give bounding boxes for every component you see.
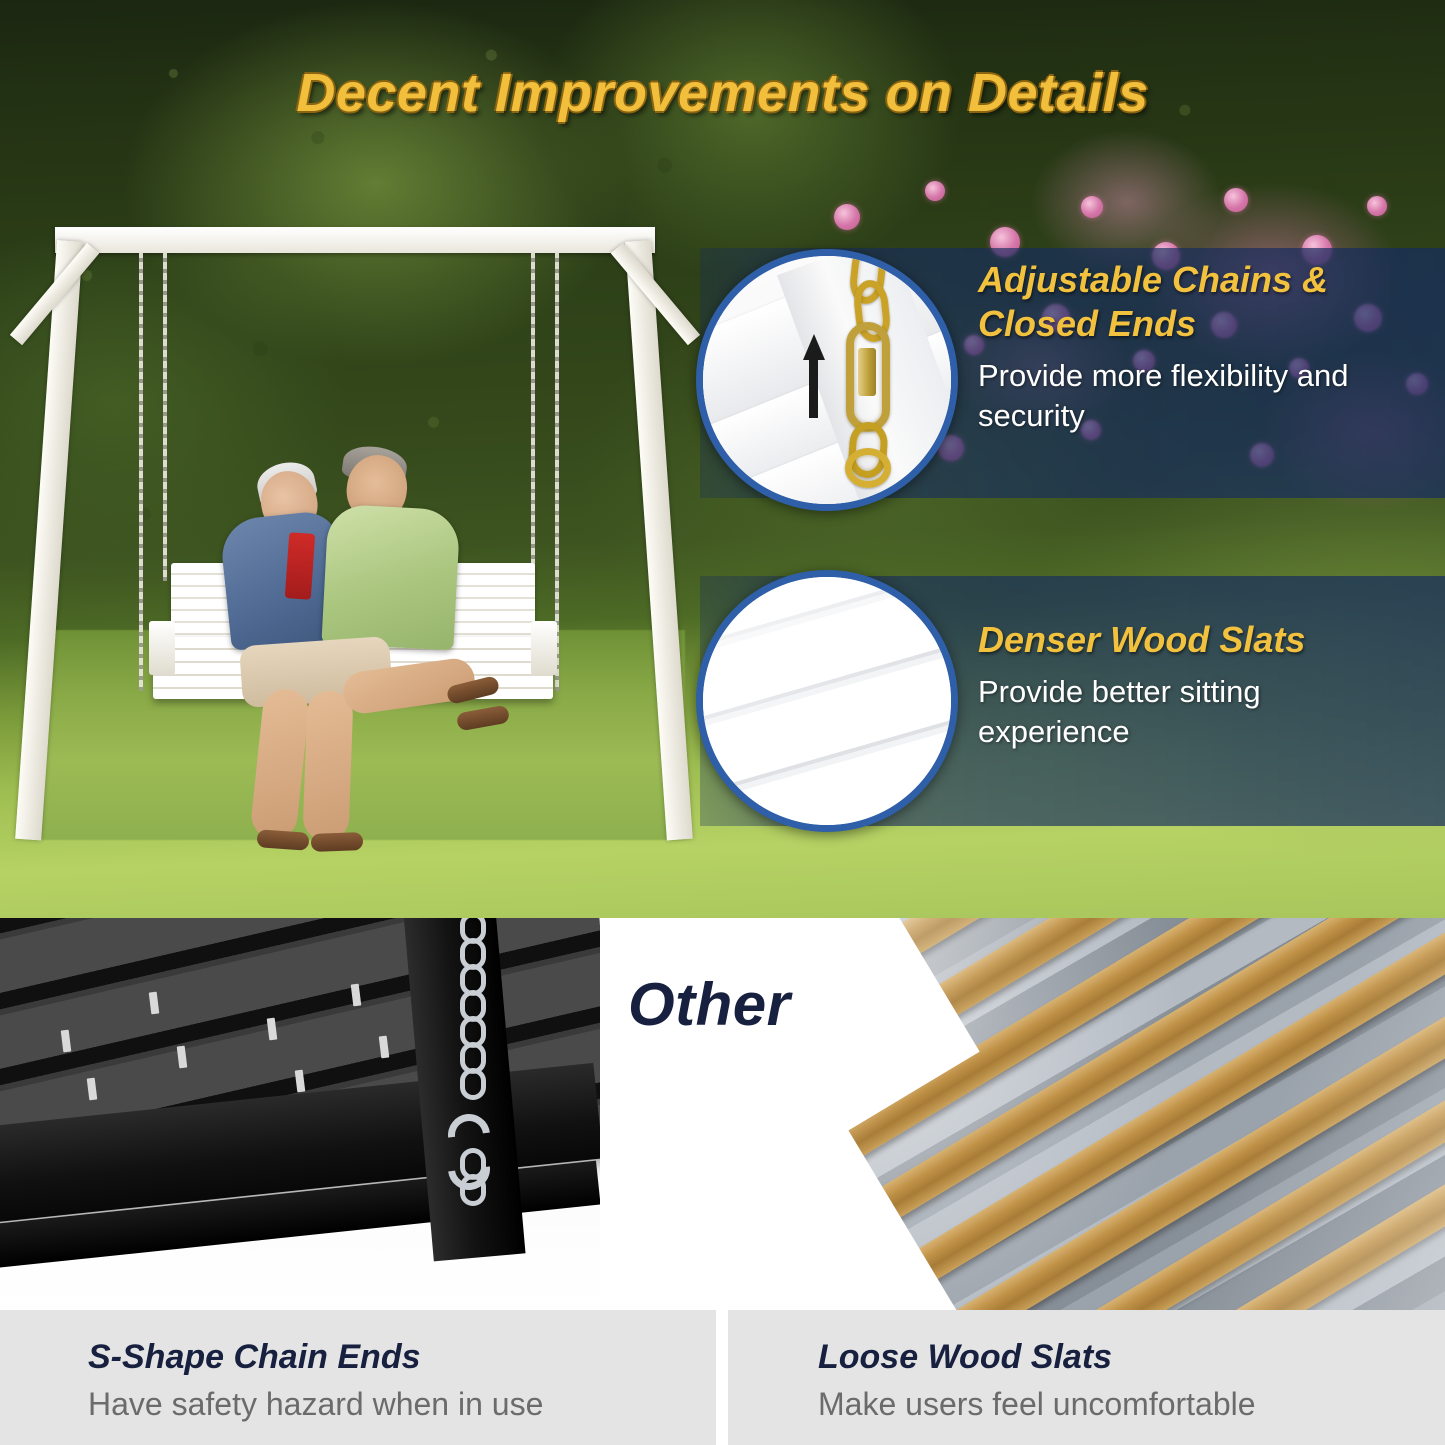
caption-left: S-Shape Chain Ends Have safety hazard wh… xyxy=(0,1310,716,1445)
woman-leg-2 xyxy=(302,690,353,842)
swing-chain-right xyxy=(531,251,535,581)
man-torso-green-shirt xyxy=(321,504,460,651)
chain-closeup-image xyxy=(703,256,951,504)
caption-title-left: S-Shape Chain Ends xyxy=(88,1338,421,1377)
feature-desc-1: Provide more flexibility and security xyxy=(978,356,1418,437)
s-hook-photo xyxy=(0,918,600,1310)
circle-callout-chains xyxy=(696,249,958,511)
swing-chain-left-outer xyxy=(139,251,143,691)
caption-title-right: Loose Wood Slats xyxy=(818,1338,1112,1377)
s-hook-icon xyxy=(444,1114,500,1198)
feature-title-1: Adjustable Chains & Closed Ends xyxy=(978,258,1418,346)
feature-text-1: Adjustable Chains & Closed Ends Provide … xyxy=(978,258,1418,436)
dense-slats-closeup-image xyxy=(703,577,951,825)
bench-arm-left xyxy=(149,621,175,675)
quick-link-nut xyxy=(858,348,876,396)
other-section: Other S-Shape Chain Ends Have safety haz… xyxy=(0,918,1445,1445)
up-arrow-icon xyxy=(803,334,823,418)
swing-product-photo xyxy=(35,215,685,840)
feature-desc-2: Provide better sitting experience xyxy=(978,672,1418,753)
page-title: Decent Improvements on Details xyxy=(0,62,1445,124)
sandal-3 xyxy=(256,829,309,851)
other-heading: Other xyxy=(628,970,791,1039)
circle-callout-slats xyxy=(696,570,958,832)
woman-red-scarf xyxy=(285,532,316,600)
caption-desc-left: Have safety hazard when in use xyxy=(88,1386,543,1423)
chain-link-icon xyxy=(845,448,891,488)
caption-right: Loose Wood Slats Make users feel uncomfo… xyxy=(728,1310,1445,1445)
frame-top-beam xyxy=(55,227,655,253)
bench-arm-right xyxy=(531,621,557,675)
hero-section: Decent Improvements on Details xyxy=(0,0,1445,918)
sandal-4 xyxy=(311,832,364,852)
loose-slats-photo xyxy=(716,918,1445,1310)
feature-title-2: Denser Wood Slats xyxy=(978,618,1418,662)
swing-chain-left xyxy=(163,251,167,581)
couple-legs xyxy=(231,635,461,815)
product-feature-poster: Decent Improvements on Details xyxy=(0,0,1445,1445)
feature-text-2: Denser Wood Slats Provide better sitting… xyxy=(978,618,1418,753)
caption-desc-right: Make users feel uncomfortable xyxy=(818,1386,1256,1423)
